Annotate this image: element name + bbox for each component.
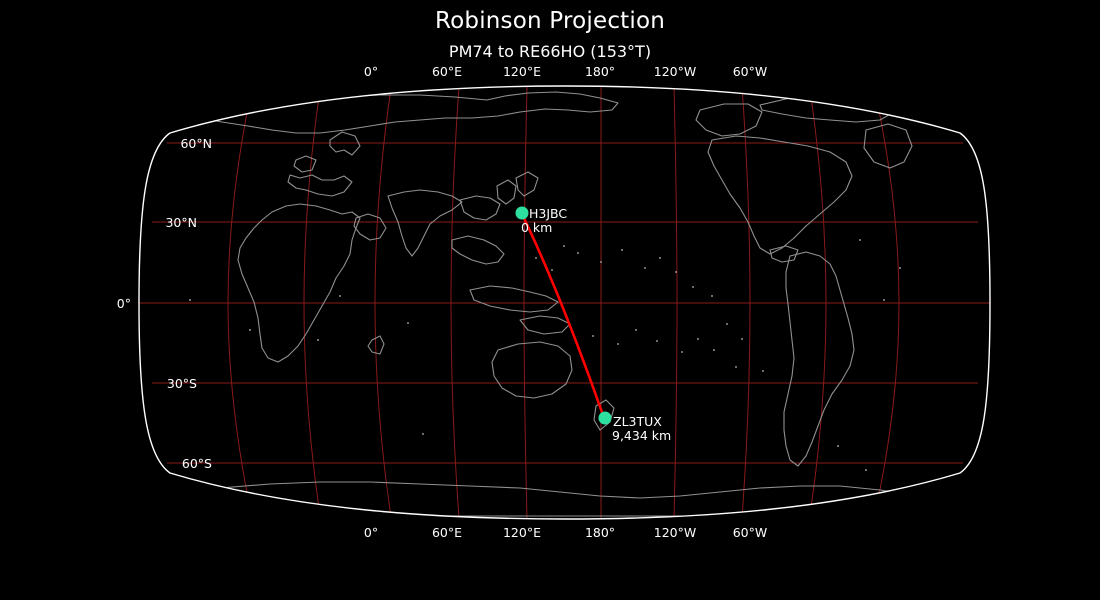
lon-tick-top-1: 60°E — [432, 64, 462, 79]
marker-origin-distance: 0 km — [521, 220, 552, 235]
lon-tick-bottom-0: 0° — [364, 525, 378, 540]
lat-tick-30N: 30°N — [165, 215, 197, 230]
lon-tick-bottom-2: 120°E — [503, 525, 541, 540]
marker-destination-dot[interactable] — [599, 412, 612, 425]
lon-axis-top: 0° 60°E 120°E 180° 120°W 60°W — [364, 64, 767, 79]
marker-destination-distance: 9,434 km — [612, 428, 671, 443]
lon-tick-top-3: 180° — [585, 64, 615, 79]
lat-tick-0: 0° — [117, 296, 131, 311]
lat-tick-30S: 30°S — [167, 376, 197, 391]
map-canvas — [130, 80, 1000, 530]
marker-origin-callsign: H3JBC — [529, 206, 567, 221]
lon-tick-top-0: 0° — [364, 64, 378, 79]
lon-tick-bottom-3: 180° — [585, 525, 615, 540]
lon-tick-top-5: 60°W — [733, 64, 768, 79]
robinson-projection-map[interactable]: H3JBC 0 km ZL3TUX 9,434 km 0° 60°E 120°E… — [0, 0, 1100, 600]
map-figure: Robinson Projection PM74 to RE66HO (153°… — [0, 0, 1100, 600]
lon-tick-top-4: 120°W — [654, 64, 696, 79]
marker-destination-callsign: ZL3TUX — [613, 414, 662, 429]
lat-tick-60S: 60°S — [182, 456, 212, 471]
lon-tick-top-2: 120°E — [503, 64, 541, 79]
lat-tick-60N: 60°N — [180, 136, 212, 151]
lon-tick-bottom-1: 60°E — [432, 525, 462, 540]
lon-axis-bottom: 0° 60°E 120°E 180° 120°W 60°W — [364, 525, 767, 540]
marker-origin-dot[interactable] — [516, 207, 529, 220]
lon-tick-bottom-5: 60°W — [733, 525, 768, 540]
lon-tick-bottom-4: 120°W — [654, 525, 696, 540]
